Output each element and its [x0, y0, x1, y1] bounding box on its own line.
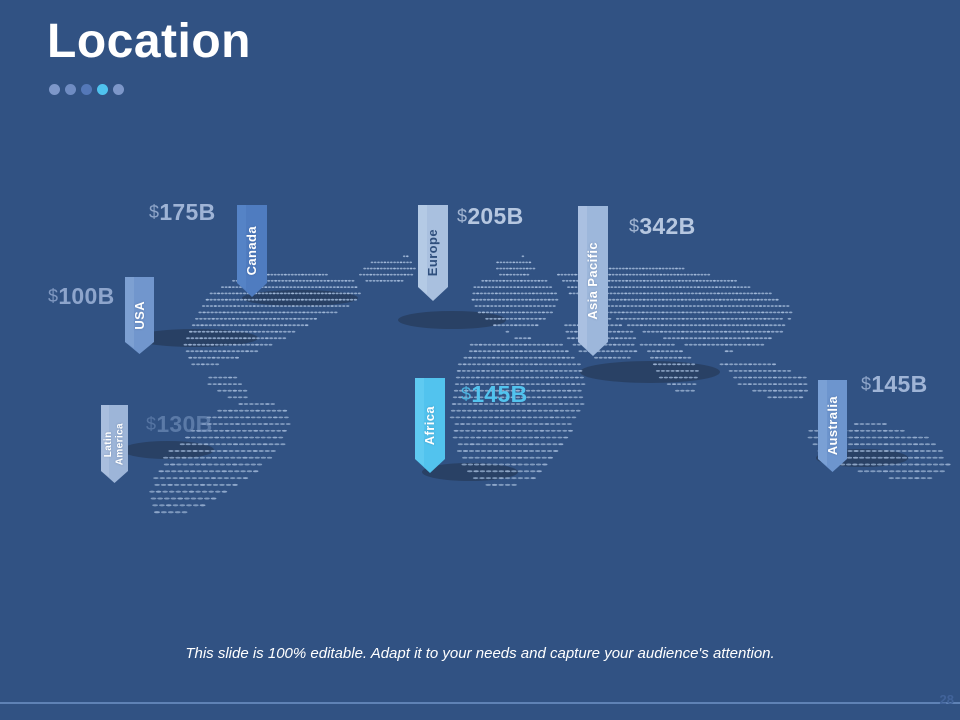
currency-symbol: $ — [861, 374, 871, 394]
accent-dot-row — [49, 84, 124, 95]
marker-australia[interactable]: Australia — [818, 380, 847, 472]
slide-canvas: Location — [0, 0, 960, 720]
value-amount: 145B — [871, 371, 927, 397]
currency-symbol: $ — [48, 286, 58, 306]
marker-label-usa: USA — [133, 301, 147, 330]
marker-label-africa: Africa — [423, 406, 437, 445]
currency-symbol: $ — [149, 202, 159, 222]
marker-label-australia: Australia — [826, 396, 840, 455]
currency-symbol: $ — [457, 206, 467, 226]
value-amount: 100B — [58, 283, 114, 309]
accent-dot-3 — [81, 84, 92, 95]
marker-label-europe: Europe — [426, 229, 440, 276]
value-amount: 145B — [471, 381, 527, 407]
marker-value-usa: $100B — [48, 283, 115, 310]
accent-dot-2 — [65, 84, 76, 95]
currency-symbol: $ — [629, 216, 639, 236]
page-title: Location — [47, 16, 251, 69]
footer-note: This slide is 100% editable. Adapt it to… — [0, 645, 960, 662]
value-amount: 175B — [159, 199, 215, 225]
marker-latin-america[interactable]: Latin America — [101, 405, 128, 483]
marker-canada[interactable]: Canada — [237, 205, 267, 297]
marker-label-asia-pacific: Asia Pacific — [586, 242, 600, 320]
currency-symbol: $ — [146, 414, 156, 434]
marker-label-latin-america: Latin America — [103, 423, 126, 465]
accent-dot-4 — [97, 84, 108, 95]
marker-value-africa: $145B — [461, 381, 528, 408]
footer-divider — [0, 702, 960, 704]
marker-value-europe: $205B — [457, 203, 524, 230]
accent-dot-1 — [49, 84, 60, 95]
accent-dot-5 — [113, 84, 124, 95]
marker-value-australia: $145B — [861, 371, 928, 398]
marker-value-asia-pacific: $342B — [629, 213, 696, 240]
value-amount: 205B — [467, 203, 523, 229]
marker-europe[interactable]: Europe — [418, 205, 448, 301]
value-amount: 130B — [156, 411, 212, 437]
currency-symbol: $ — [461, 384, 471, 404]
value-amount: 342B — [639, 213, 695, 239]
marker-value-canada: $175B — [149, 199, 216, 226]
marker-label-canada: Canada — [245, 226, 259, 275]
marker-africa[interactable]: Africa — [415, 378, 445, 473]
marker-value-latin-america: $130B — [146, 411, 213, 438]
marker-asia-pacific[interactable]: Asia Pacific — [578, 206, 608, 356]
page-number: 28 — [940, 692, 954, 707]
marker-usa[interactable]: USA — [125, 277, 154, 354]
